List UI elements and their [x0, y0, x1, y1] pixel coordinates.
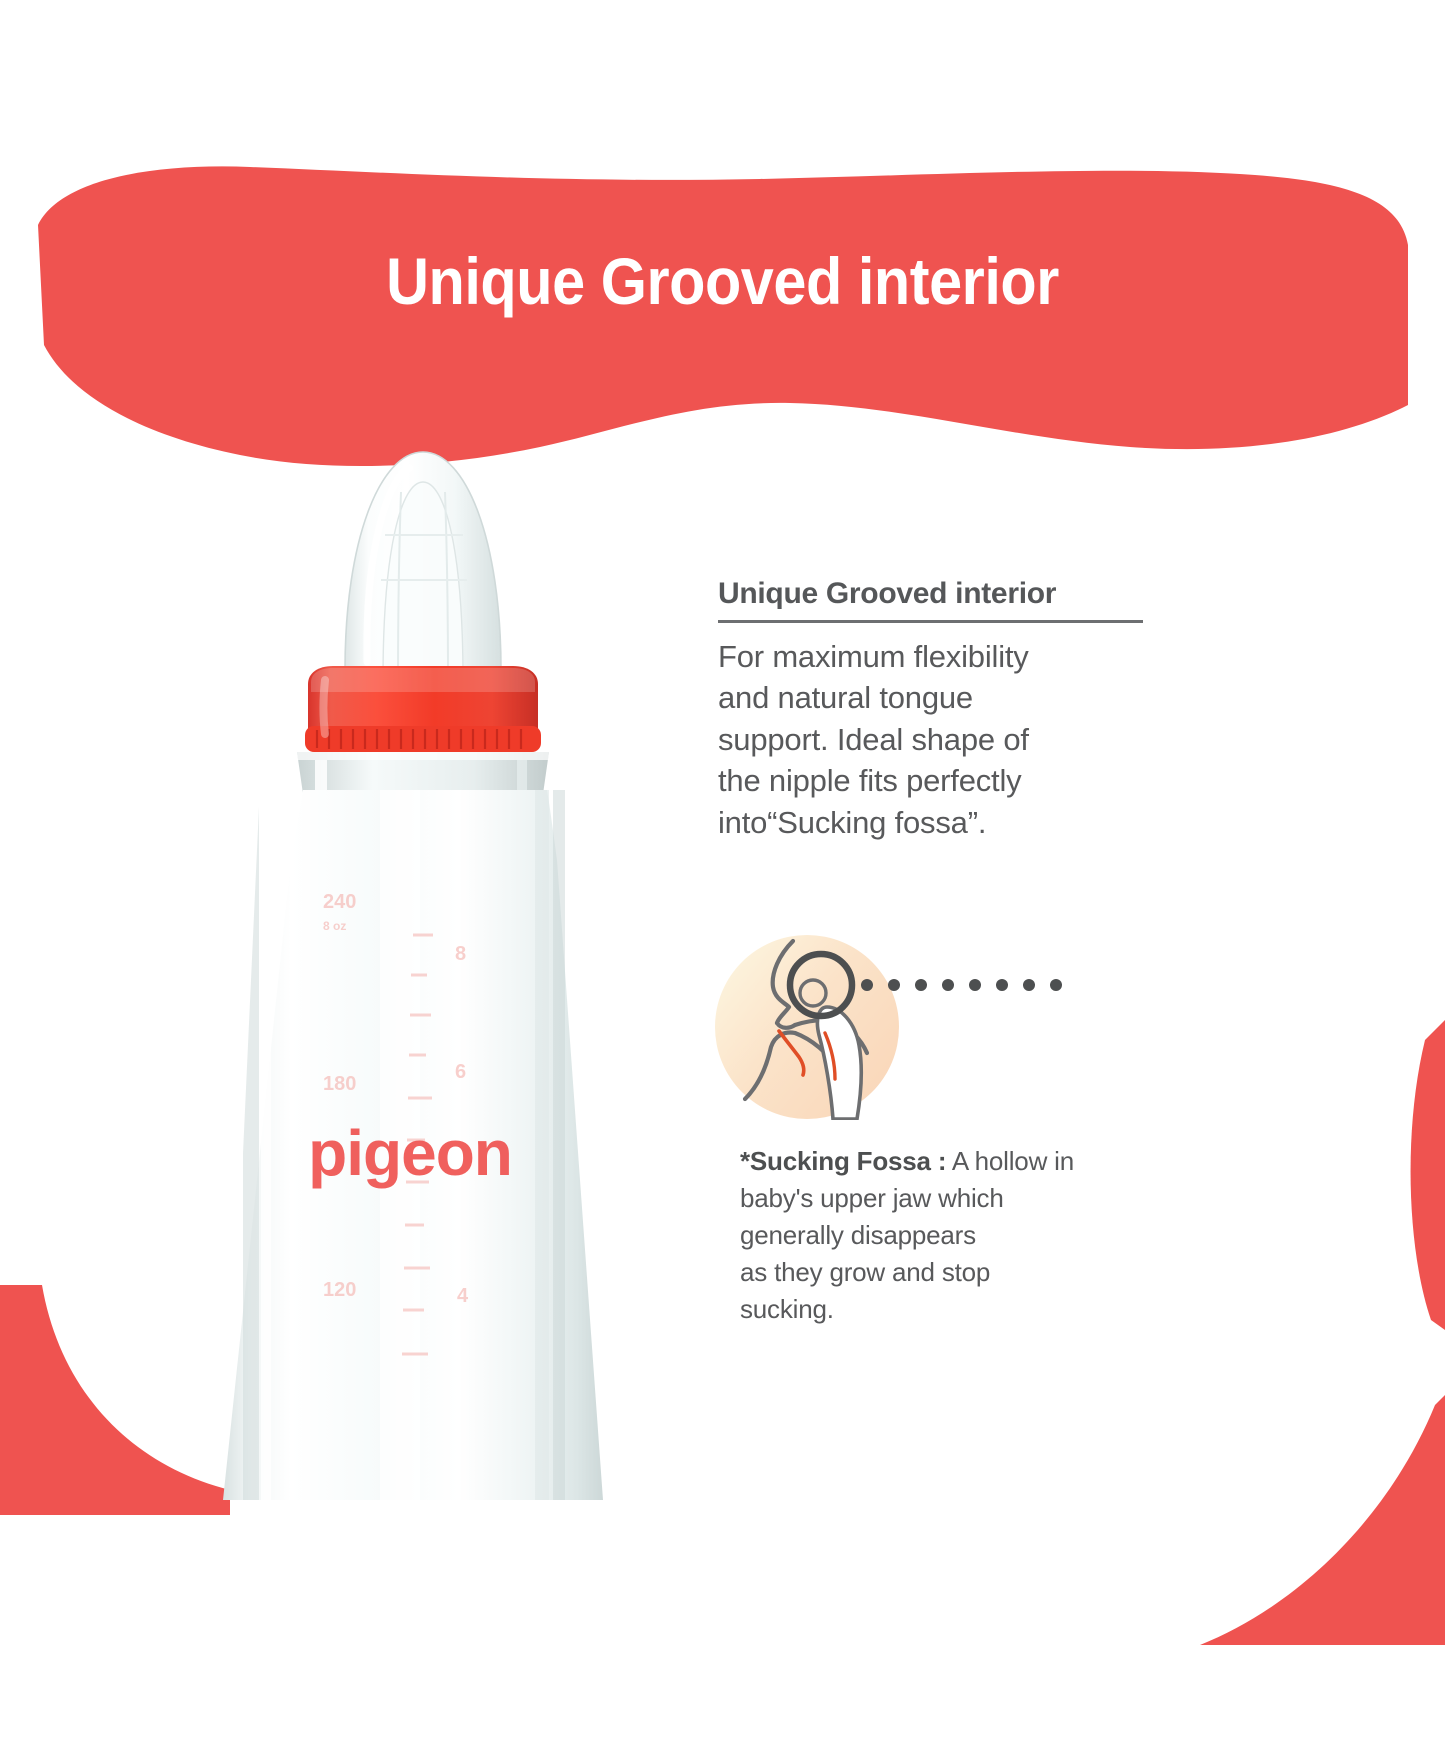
feature-body-line: support. Ideal shape of [718, 719, 1143, 761]
footnote-line: sucking. [740, 1291, 1140, 1328]
footnote-label: *Sucking Fossa : [740, 1146, 946, 1176]
corner-blob-bottom-left [0, 1285, 230, 1515]
pigeon-logo: pigeon [308, 1117, 512, 1189]
footnote-line: A hollow in [946, 1146, 1074, 1176]
footnote-line: as they grow and stop [740, 1254, 1140, 1291]
svg-text:120: 120 [323, 1279, 356, 1301]
collar-knurling [305, 726, 541, 752]
red-screw-collar [305, 666, 541, 752]
feature-body-line: into“Sucking fossa”. [718, 802, 1143, 844]
feature-body-line: the nipple fits perfectly [718, 760, 1143, 802]
svg-text:6: 6 [455, 1061, 466, 1083]
silicone-nipple [345, 452, 501, 682]
svg-text:180: 180 [323, 1073, 356, 1095]
bottle-neck-ring [297, 752, 549, 794]
svg-text:240: 240 [323, 891, 356, 913]
feature-body-line: and natural tongue [718, 677, 1143, 719]
dotted-leader [861, 979, 1062, 991]
corner-sliver-right-upper [1235, 1020, 1445, 1330]
svg-text:4: 4 [457, 1285, 469, 1307]
feature-text-panel: Unique Grooved interior For maximum flex… [718, 575, 1143, 843]
footnote-first-line: *Sucking Fossa : A hollow in [740, 1143, 1140, 1180]
product-bottle-image: 240 8 oz 8 180 6 120 4 [205, 430, 655, 1500]
svg-text:8 oz: 8 oz [323, 919, 346, 933]
feature-body-line: For maximum flexibility [718, 636, 1143, 678]
sucking-fossa-illustration [715, 935, 1145, 1120]
page-title: Unique Grooved interior [72, 248, 1373, 314]
feature-body: For maximum flexibility and natural tong… [718, 636, 1143, 844]
footnote-line: baby's upper jaw which [740, 1180, 1140, 1217]
corner-sliver-right-lower [1190, 1395, 1445, 1645]
glass-bottle-body: 240 8 oz 8 180 6 120 4 [223, 790, 603, 1500]
svg-text:8: 8 [455, 943, 466, 965]
feature-heading: Unique Grooved interior [718, 575, 1143, 623]
footnote-line: generally disappears [740, 1217, 1140, 1254]
illustration-backdrop [715, 935, 899, 1119]
sucking-fossa-footnote: *Sucking Fossa : A hollow in baby's uppe… [740, 1143, 1140, 1328]
